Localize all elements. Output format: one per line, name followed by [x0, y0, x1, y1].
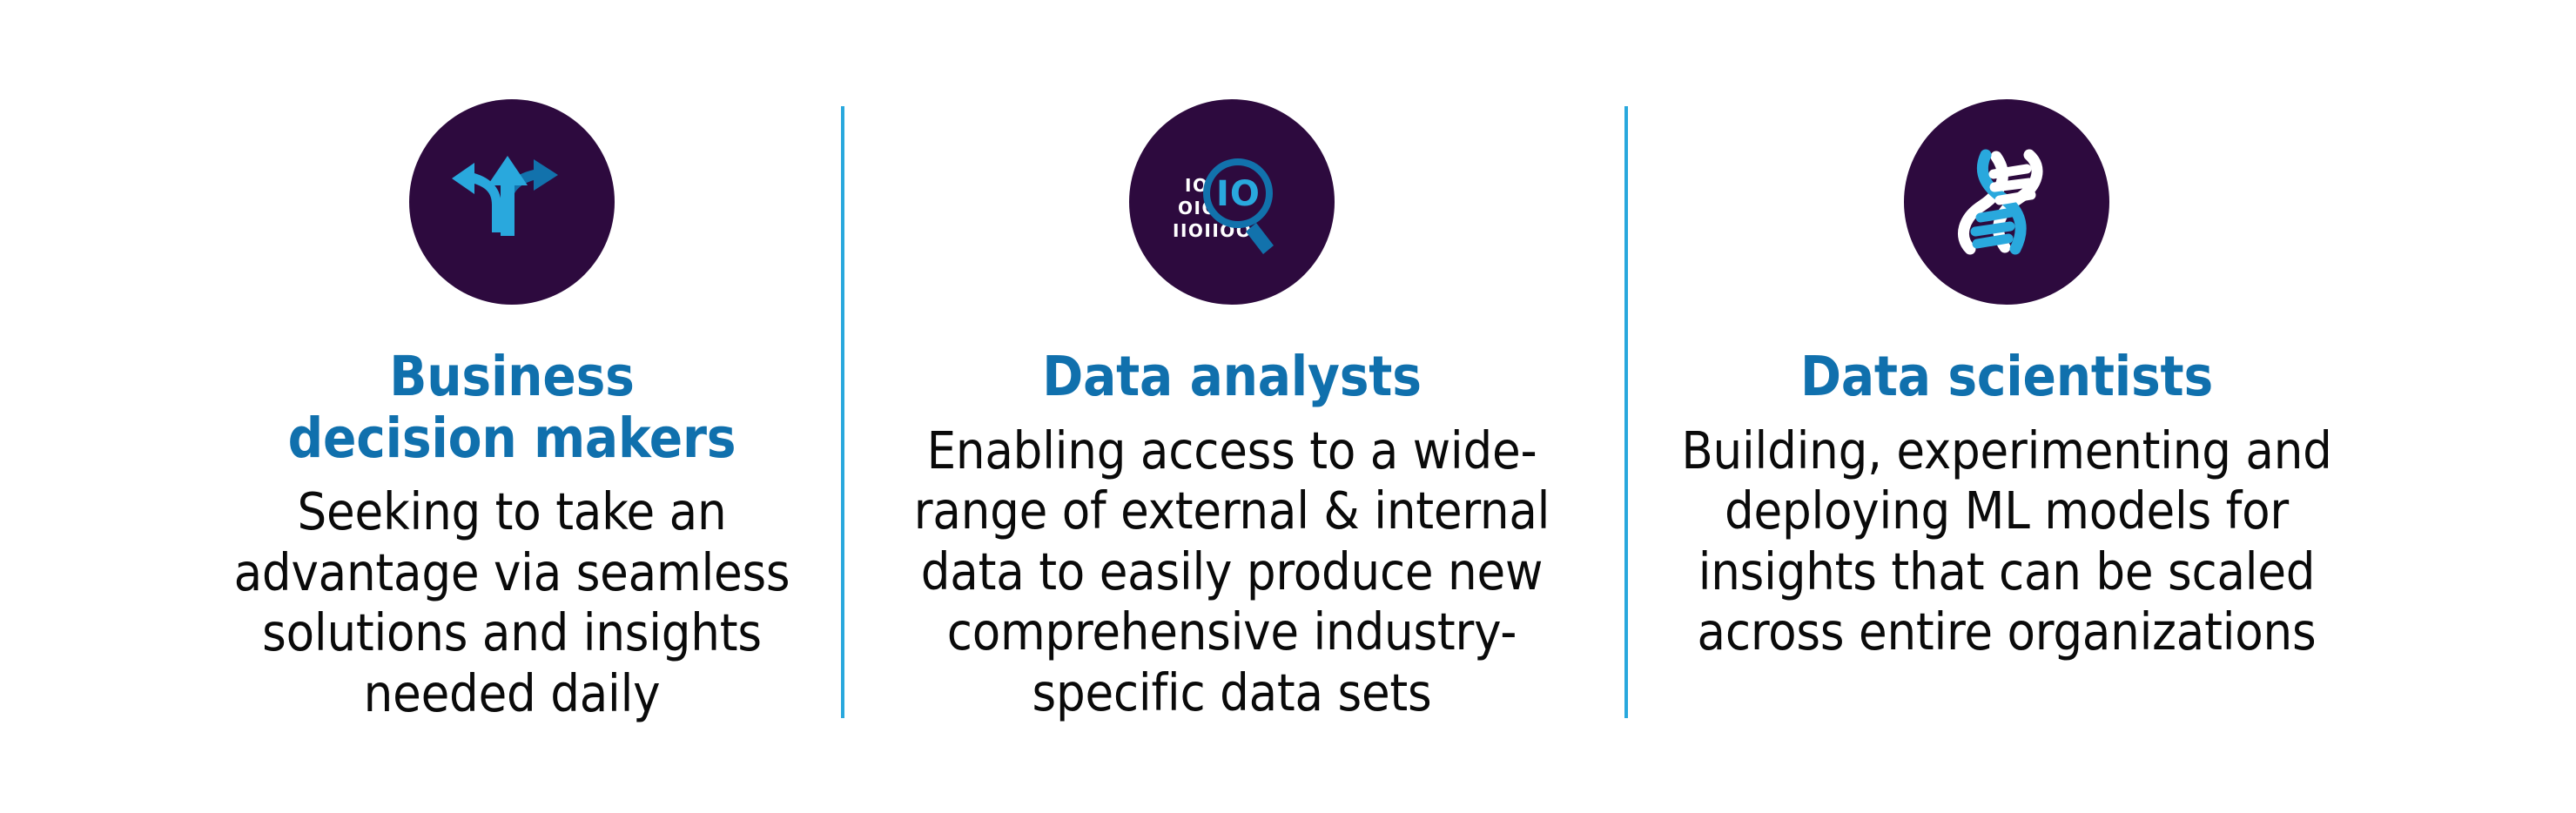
dna-helix-icon	[1946, 138, 2068, 266]
column-body-1: Seeking to take an advantage via seamles…	[225, 481, 799, 723]
column-data-scientists: Data scientists Building, experimenting …	[1658, 0, 2355, 662]
three-way-arrow-icon	[447, 137, 577, 267]
infographic-board: Business decision makers Seeking to take…	[0, 0, 2576, 813]
badge-circle-1	[409, 99, 615, 305]
column-business-decision-makers: Business decision makers Seeking to take…	[216, 0, 808, 724]
column-heading-1: Business decision makers	[268, 346, 756, 469]
column-body-2: Enabling access to a wide-range of exter…	[871, 420, 1593, 723]
column-heading-3: Data scientists	[1800, 346, 2213, 408]
badge-circle-3	[1904, 99, 2109, 305]
svg-text:IO: IO	[1216, 174, 1261, 214]
column-divider-1	[841, 106, 844, 718]
magnifying-glass-binary-icon: IO OIO. IIOIIOO IO	[1166, 136, 1298, 268]
column-body-3: Building, experimenting and deploying ML…	[1658, 420, 2355, 662]
column-heading-2: Data analysts	[1042, 346, 1422, 408]
column-divider-2	[1624, 106, 1628, 718]
badge-circle-2: IO OIO. IIOIIOO IO	[1129, 99, 1335, 305]
column-data-analysts: IO OIO. IIOIIOO IO Data anal	[871, 0, 1593, 723]
